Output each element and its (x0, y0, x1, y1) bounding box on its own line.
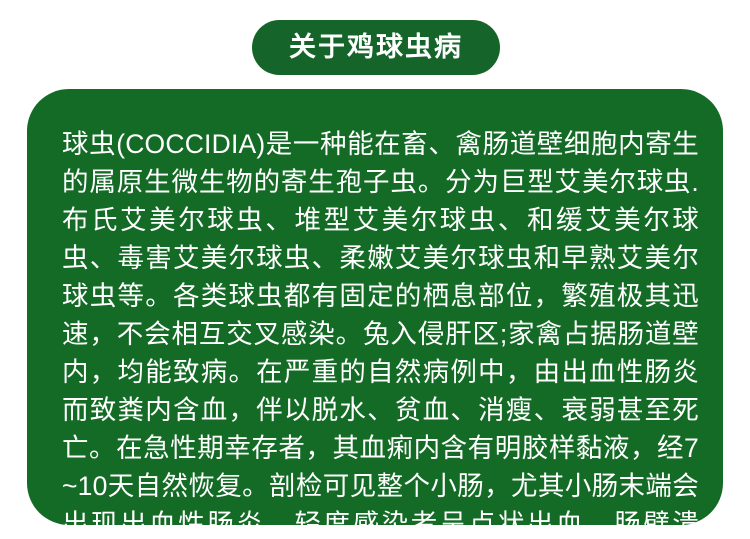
content-card: 球虫(COCCIDIA)是一种能在畜、禽肠道壁细胞内寄生的属原生微生物的寄生孢子… (27, 89, 723, 525)
page-title: 关于鸡球虫病 (289, 34, 463, 61)
body-paragraph: 球虫(COCCIDIA)是一种能在畜、禽肠道壁细胞内寄生的属原生微生物的寄生孢子… (62, 125, 699, 525)
section-title-pill: 关于鸡球虫病 (252, 20, 500, 75)
infographic-page: 关于鸡球虫病 球虫(COCCIDIA)是一种能在畜、禽肠道壁细胞内寄生的属原生微… (0, 0, 750, 539)
